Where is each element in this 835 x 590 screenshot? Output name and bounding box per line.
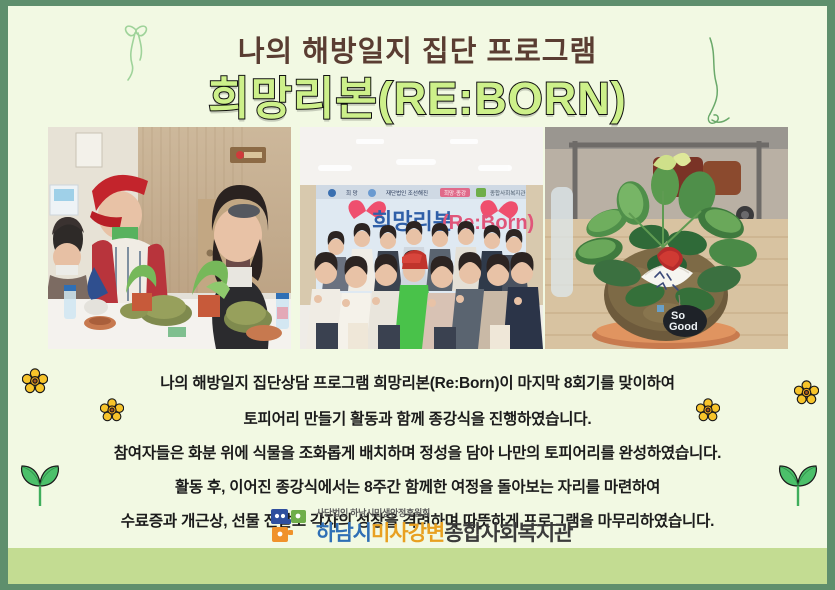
svg-text:재단법인 조선해진: 재단법인 조선해진 <box>386 189 428 197</box>
title-block: 나의 해방일지 집단 프로그램 희망리본(RE:BORN) <box>8 14 827 119</box>
poster-root: 나의 해방일지 집단 프로그램 희망리본(RE:BORN) <box>0 0 835 590</box>
photo-topiary-making <box>48 127 291 349</box>
flower-icon <box>100 398 124 422</box>
footer-org-part1: 하남시 <box>316 522 371 545</box>
flower-icon <box>794 380 819 405</box>
footer-org-name: 하남시미사강변종합사회복지관 <box>316 517 573 547</box>
sprout-leaf-icon <box>778 458 818 506</box>
svg-text:희망·종강: 희망·종강 <box>444 189 466 197</box>
footer-bar <box>8 548 827 584</box>
svg-text:Good: Good <box>669 321 698 333</box>
curling-vine-icon <box>696 34 736 129</box>
photo-group-ceremony: 희 망 재단법인 조선해진 희망·종강 종합사회복지관 희망 <box>300 127 543 349</box>
flower-icon <box>22 368 48 394</box>
footer-logo-block: 사단법인 하남시민생안정후원회 하남시미사강변종합사회복지관 <box>266 504 586 548</box>
flower-icon <box>696 398 720 422</box>
footer-org-part4: 종합사회복지관 <box>444 522 572 545</box>
body-line-3: 참여자들은 화분 위에 식물을 조화롭게 배치하며 정성을 담아 나만의 토피어… <box>8 441 827 463</box>
svg-text:종합사회복지관: 종합사회복지관 <box>490 189 525 197</box>
puzzle-pieces-logo-icon <box>270 508 310 544</box>
photo-finished-topiary: So Good <box>545 127 788 349</box>
body-line-4: 활동 후, 이어진 종강식에서는 8주간 함께한 여정을 돌아보는 자리를 마련… <box>8 475 827 497</box>
svg-text:희 망: 희 망 <box>346 189 358 197</box>
footer-org-part2: 미사강변 <box>371 522 444 545</box>
photo-gallery: 희 망 재단법인 조선해진 희망·종강 종합사회복지관 희망 <box>8 127 827 352</box>
body-line-1: 나의 해방일지 집단상담 프로그램 희망리본(Re:Born)이 마지막 8회기… <box>8 371 827 393</box>
sprout-leaf-icon <box>20 458 60 506</box>
poster-inner-canvas: 나의 해방일지 집단 프로그램 희망리본(RE:BORN) <box>8 6 827 584</box>
